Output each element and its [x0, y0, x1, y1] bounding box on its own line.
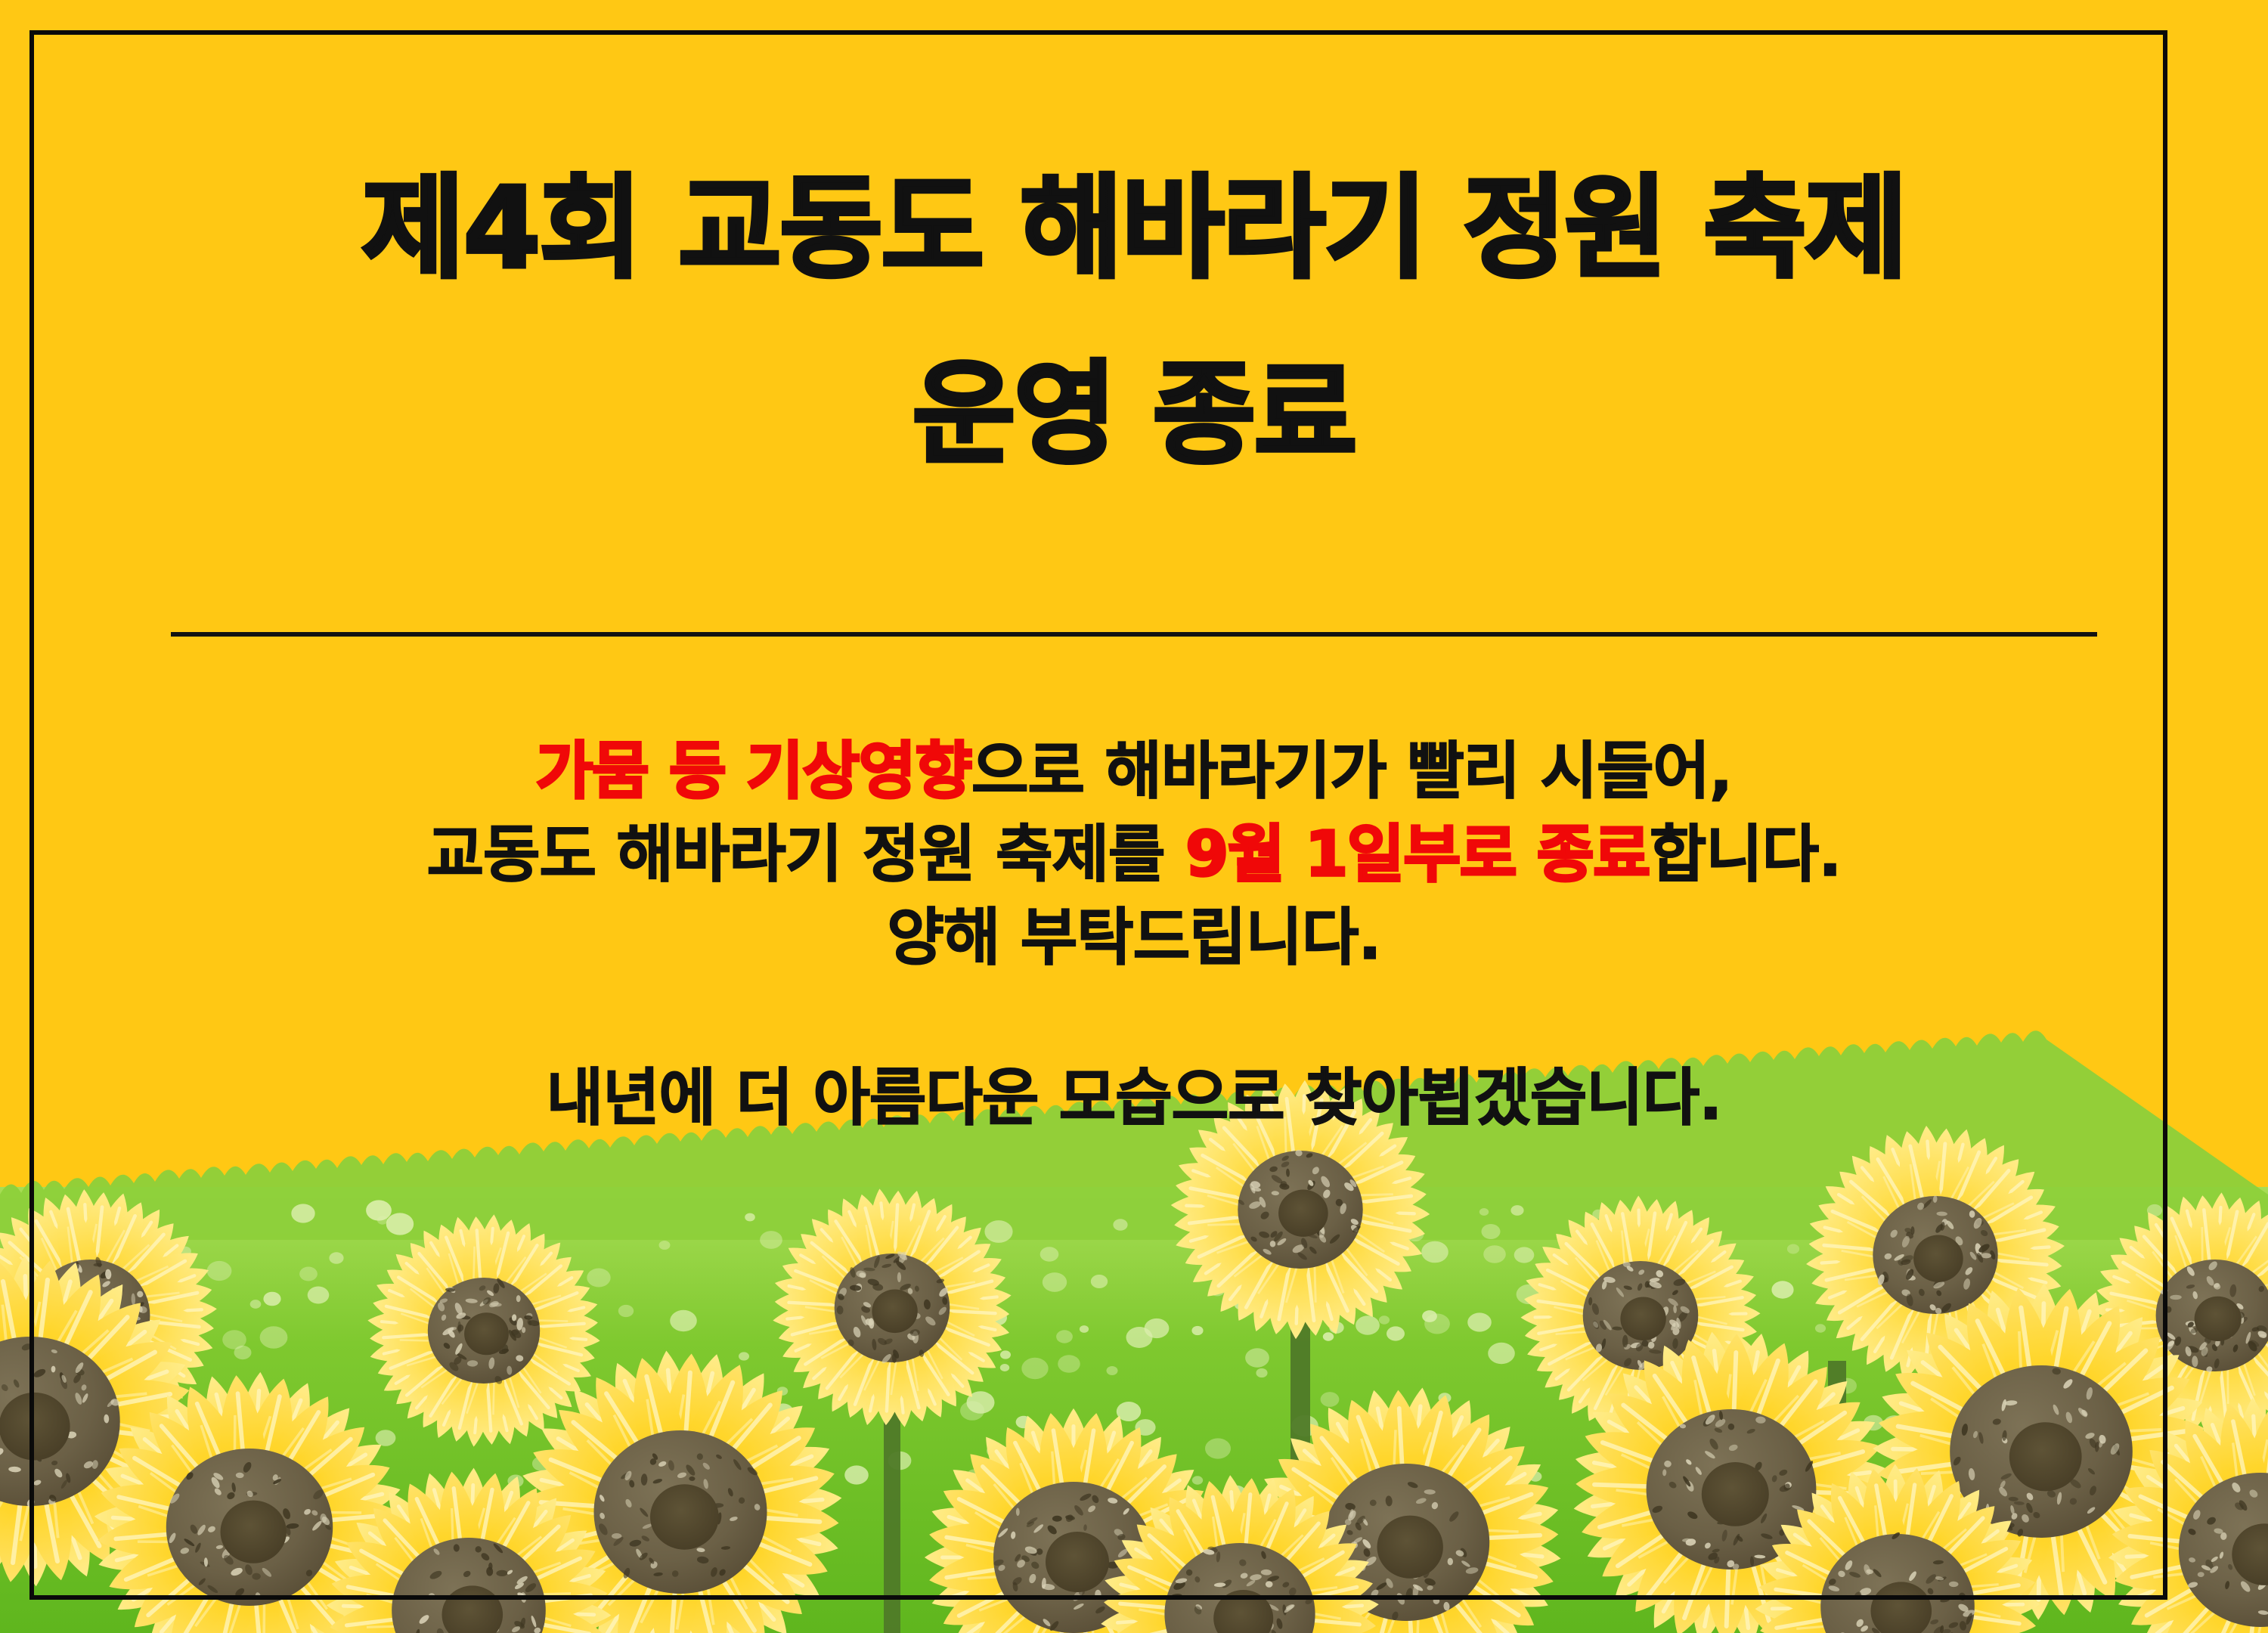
notice-highlight-date: 9월 1일부로 종료	[1185, 819, 1650, 891]
notice-line-3: 양해 부탁드립니다.	[0, 907, 2268, 969]
notice-highlight-cause: 가뭄 등 기상영향	[536, 736, 971, 807]
notice-line-2: 교동도 해바라기 정원 축제를 9월 1일부로 종료합니다.	[0, 824, 2268, 886]
page-title-line-1: 제4회 교동도 해바라기 정원 축제	[0, 172, 2268, 284]
title-divider	[171, 632, 2097, 637]
notice-line-2-prefix: 교동도 해바라기 정원 축제를	[427, 819, 1185, 891]
notice-line-1-text: 으로 해바라기가 빨리 시들어,	[971, 736, 1732, 807]
notice-line-1: 가뭄 등 기상영향으로 해바라기가 빨리 시들어,	[0, 741, 2268, 803]
notice-closing-line: 내년에 더 아름다운 모습으로 찾아뵙겠습니다.	[0, 1067, 2268, 1129]
notice-line-2-suffix: 합니다.	[1650, 819, 1841, 891]
page-title-line-2: 운영 종료	[0, 358, 2268, 470]
poster-canvas: 제4회 교동도 해바라기 정원 축제 운영 종료 가뭄 등 기상영향으로 해바라…	[0, 0, 2268, 1633]
poster-content: 제4회 교동도 해바라기 정원 축제 운영 종료 가뭄 등 기상영향으로 해바라…	[0, 0, 2268, 1633]
